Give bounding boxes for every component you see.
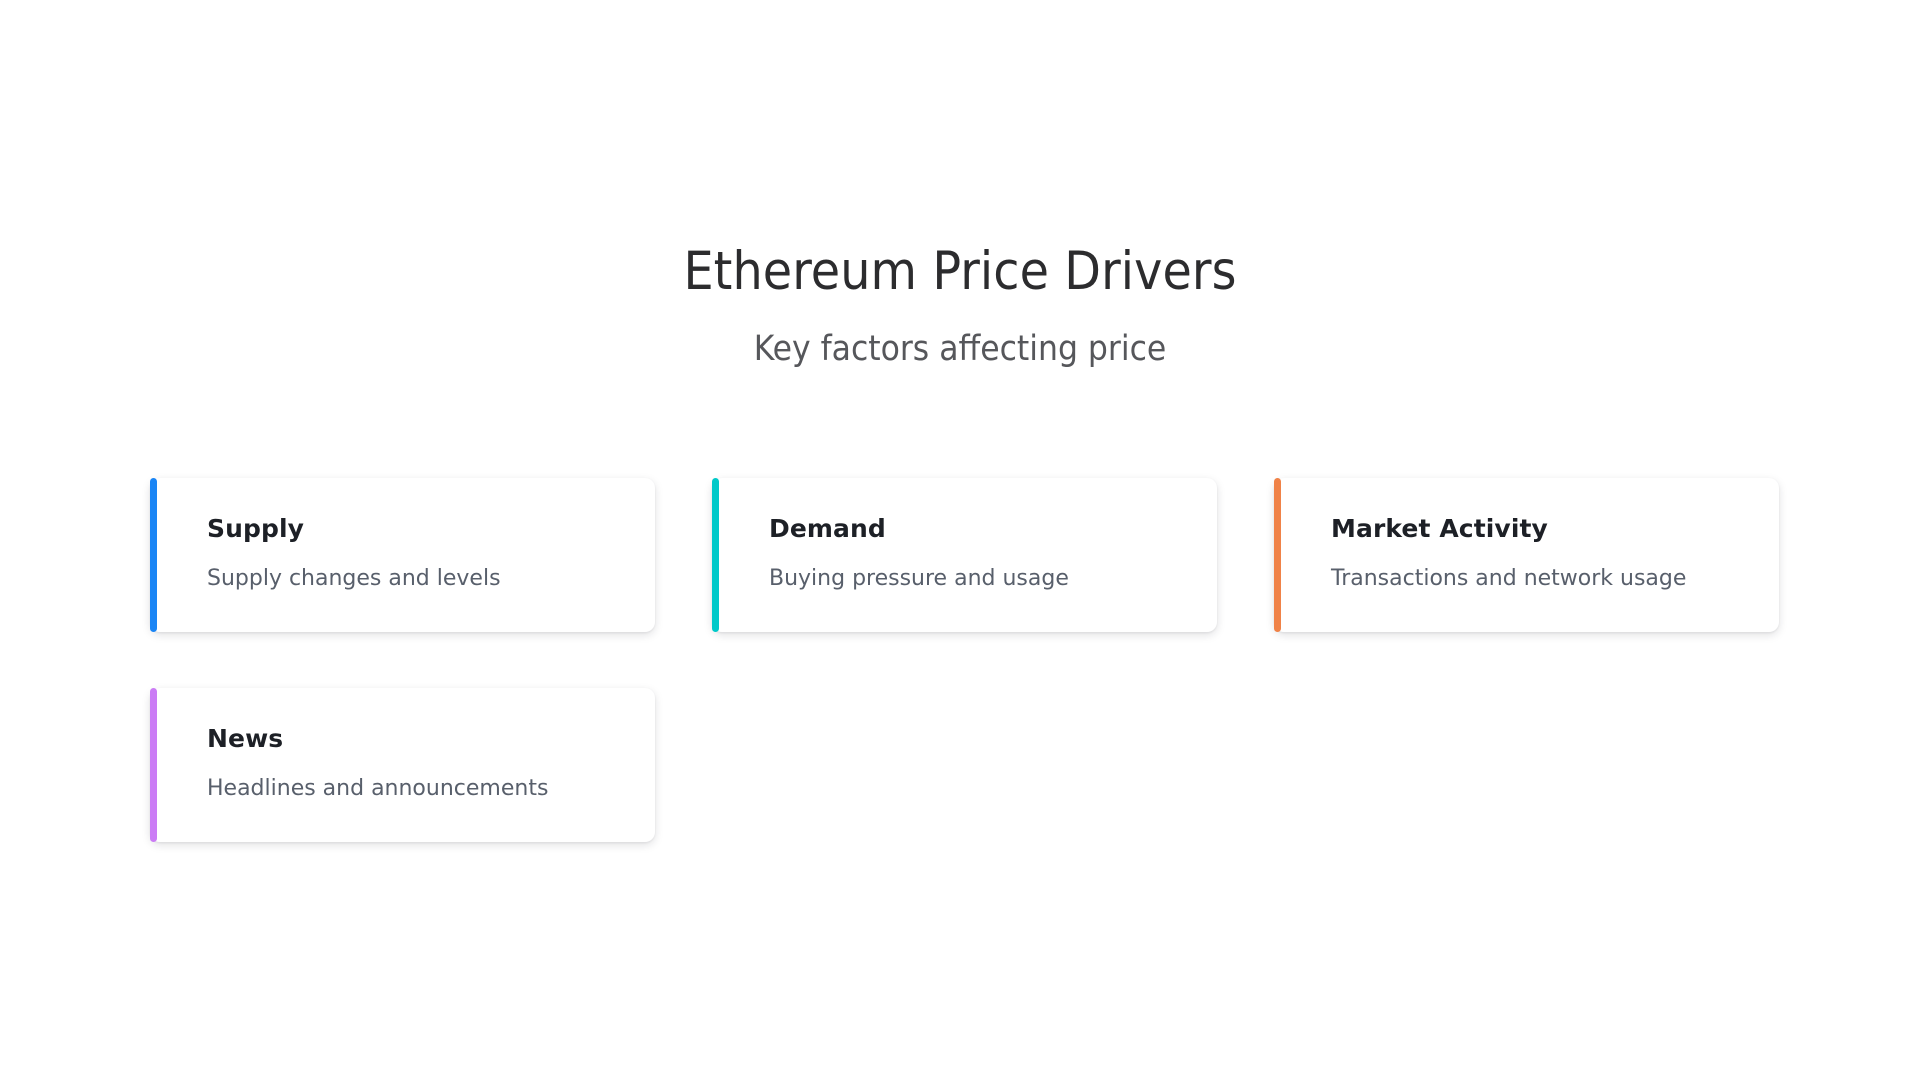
driver-card-title: Market Activity [1331, 514, 1751, 544]
driver-card-description: Supply changes and levels [207, 544, 627, 592]
accent-bar-icon [150, 478, 157, 632]
page-subtitle: Key factors affecting price [0, 301, 1920, 369]
driver-card-grid: Supply Supply changes and levels Demand … [150, 478, 1770, 842]
page-header: Ethereum Price Drivers Key factors affec… [0, 0, 1920, 370]
driver-card-market-activity[interactable]: Market Activity Transactions and network… [1274, 478, 1779, 632]
driver-card-supply[interactable]: Supply Supply changes and levels [150, 478, 655, 632]
accent-bar-icon [150, 688, 157, 842]
driver-card-news[interactable]: News Headlines and announcements [150, 688, 655, 842]
page-title: Ethereum Price Drivers [0, 0, 1920, 301]
driver-card-title: Demand [769, 514, 1189, 544]
accent-bar-icon [712, 478, 719, 632]
accent-bar-icon [1274, 478, 1281, 632]
driver-card-demand[interactable]: Demand Buying pressure and usage [712, 478, 1217, 632]
ethereum-price-drivers-page: Ethereum Price Drivers Key factors affec… [0, 0, 1920, 1080]
driver-card-description: Buying pressure and usage [769, 544, 1189, 592]
driver-card-description: Transactions and network usage [1331, 544, 1751, 592]
driver-card-title: Supply [207, 514, 627, 544]
driver-card-title: News [207, 724, 627, 754]
driver-card-description: Headlines and announcements [207, 754, 627, 802]
